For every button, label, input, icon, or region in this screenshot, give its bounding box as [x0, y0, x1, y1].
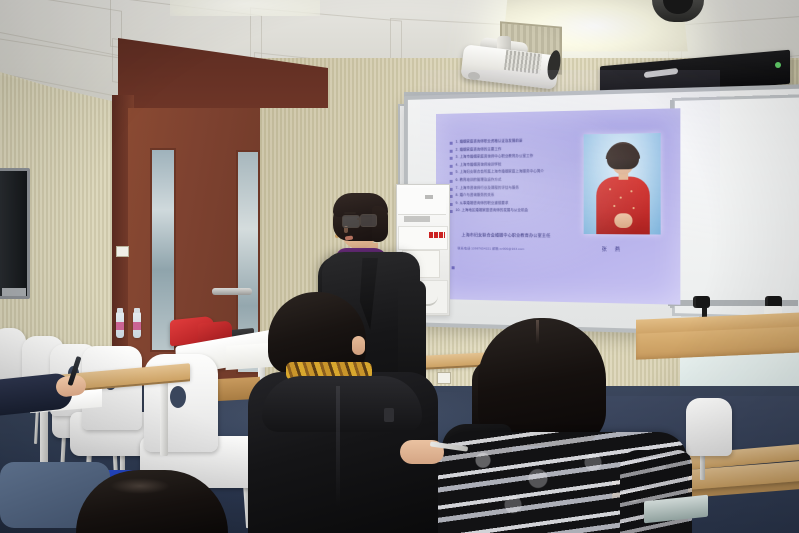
light-switch-back[interactable] [437, 372, 451, 384]
student-front-hair-highlight [110, 478, 170, 494]
bottle-cap [117, 308, 123, 313]
cabinet-label [404, 216, 430, 222]
slide-organization-line: 上海市妇女联合会婚姻中心职业教育办公室主任 [461, 232, 550, 239]
classroom-photo-scene: 1. 婚姻家庭咨询师职业资格认证及发展前景 2. 婚姻家庭咨询师的主要工作 3.… [0, 0, 799, 533]
slide-bullet-item: 7. 上海市咨询师行业及课程的评估与服务 [450, 185, 571, 191]
bullet-marker-icon [450, 195, 453, 198]
portrait-hands [614, 213, 632, 228]
slide-bullet-item: 9. 从事婚姻咨询师的职业道德要求 [450, 201, 571, 206]
bullet-marker-icon [450, 149, 453, 152]
chair-handle-cutout [170, 386, 186, 408]
slide-bullet-item: 1. 婚姻家庭咨询师职业资格认证及发展前景 [450, 138, 571, 145]
slide-bullet-item: 8. 婚介与咨询服务的关系 [450, 193, 571, 198]
slide-footer-marker-icon [452, 266, 455, 269]
wall-mounted-display [0, 168, 30, 299]
bullet-marker-icon [450, 157, 453, 160]
slide-bullet-item: 3. 上海市婚姻家庭咨询师中心职业教育办公室工作 [450, 153, 571, 160]
slide-bullet-item: 5. 上海妇女联合会所属上海市婚姻家庭上海服务中心简介 [450, 169, 571, 175]
display-mount [2, 288, 26, 296]
desk-leg [160, 378, 168, 456]
bullet-marker-icon [450, 210, 453, 213]
slide-bullet-item: 6. 教育培训的管理及运作方式 [450, 177, 571, 183]
glasses-lens-right-icon [360, 214, 377, 227]
cabinet-indicator-lights-icon [429, 232, 445, 238]
presenter-eyebrow [344, 212, 356, 214]
whiteboard-right-panel [672, 94, 799, 319]
bottle-cap [134, 308, 140, 313]
student-center-jacket-seam [336, 386, 340, 506]
student-center-ear [352, 336, 365, 355]
bullet-marker-icon [450, 187, 453, 190]
bullet-marker-icon [450, 165, 453, 168]
door-handle[interactable] [212, 288, 252, 295]
cabinet-top-unit [398, 188, 446, 215]
student-right-hair-part [536, 320, 539, 344]
projector-vent-grill [504, 50, 542, 74]
glasses-lens-left-icon [342, 215, 360, 228]
glasses-bridge-icon [357, 218, 361, 220]
microphone-head-left-icon [696, 296, 710, 308]
bullet-marker-icon [450, 172, 453, 175]
bottle-label [133, 322, 141, 330]
student-center-hood [262, 376, 422, 432]
slide-portrait-caption: 张 燕 [602, 246, 624, 254]
slide-bullet-item: 4. 上海市婚姻咨询师培训学校 [450, 161, 571, 167]
bullet-marker-icon [450, 203, 453, 206]
bullet-marker-icon [450, 142, 453, 145]
speaker-power-led-icon [775, 62, 781, 68]
slide-bullet-list: 1. 婚姻家庭咨询师职业资格认证及发展前景 2. 婚姻家庭咨询师的主要工作 3.… [450, 138, 571, 217]
ceiling-light-far [170, 0, 320, 16]
cabinet-logo [425, 195, 433, 199]
projected-slide: 1. 婚姻家庭咨询师职业资格认证及发展前景 2. 婚姻家庭咨询师的主要工作 3.… [436, 108, 680, 305]
chair-backrest [686, 398, 732, 456]
student-center-zip-pull [384, 408, 394, 422]
slide-contact-line: 联系电话:13987654321 邮箱:xz000@163.com [458, 245, 525, 251]
slide-bullet-item: 2. 婚姻家庭咨询师的主要工作 [450, 146, 571, 153]
light-switch-left[interactable] [116, 246, 129, 257]
bottle-label [116, 322, 124, 330]
cabinet-mid-unit [398, 226, 448, 250]
slide-bullet-item: 10. 上海地区婚姻家庭咨询师的发展与从业机会 [450, 208, 571, 213]
slide-portrait-photo [584, 133, 661, 235]
bullet-marker-icon [450, 180, 453, 183]
